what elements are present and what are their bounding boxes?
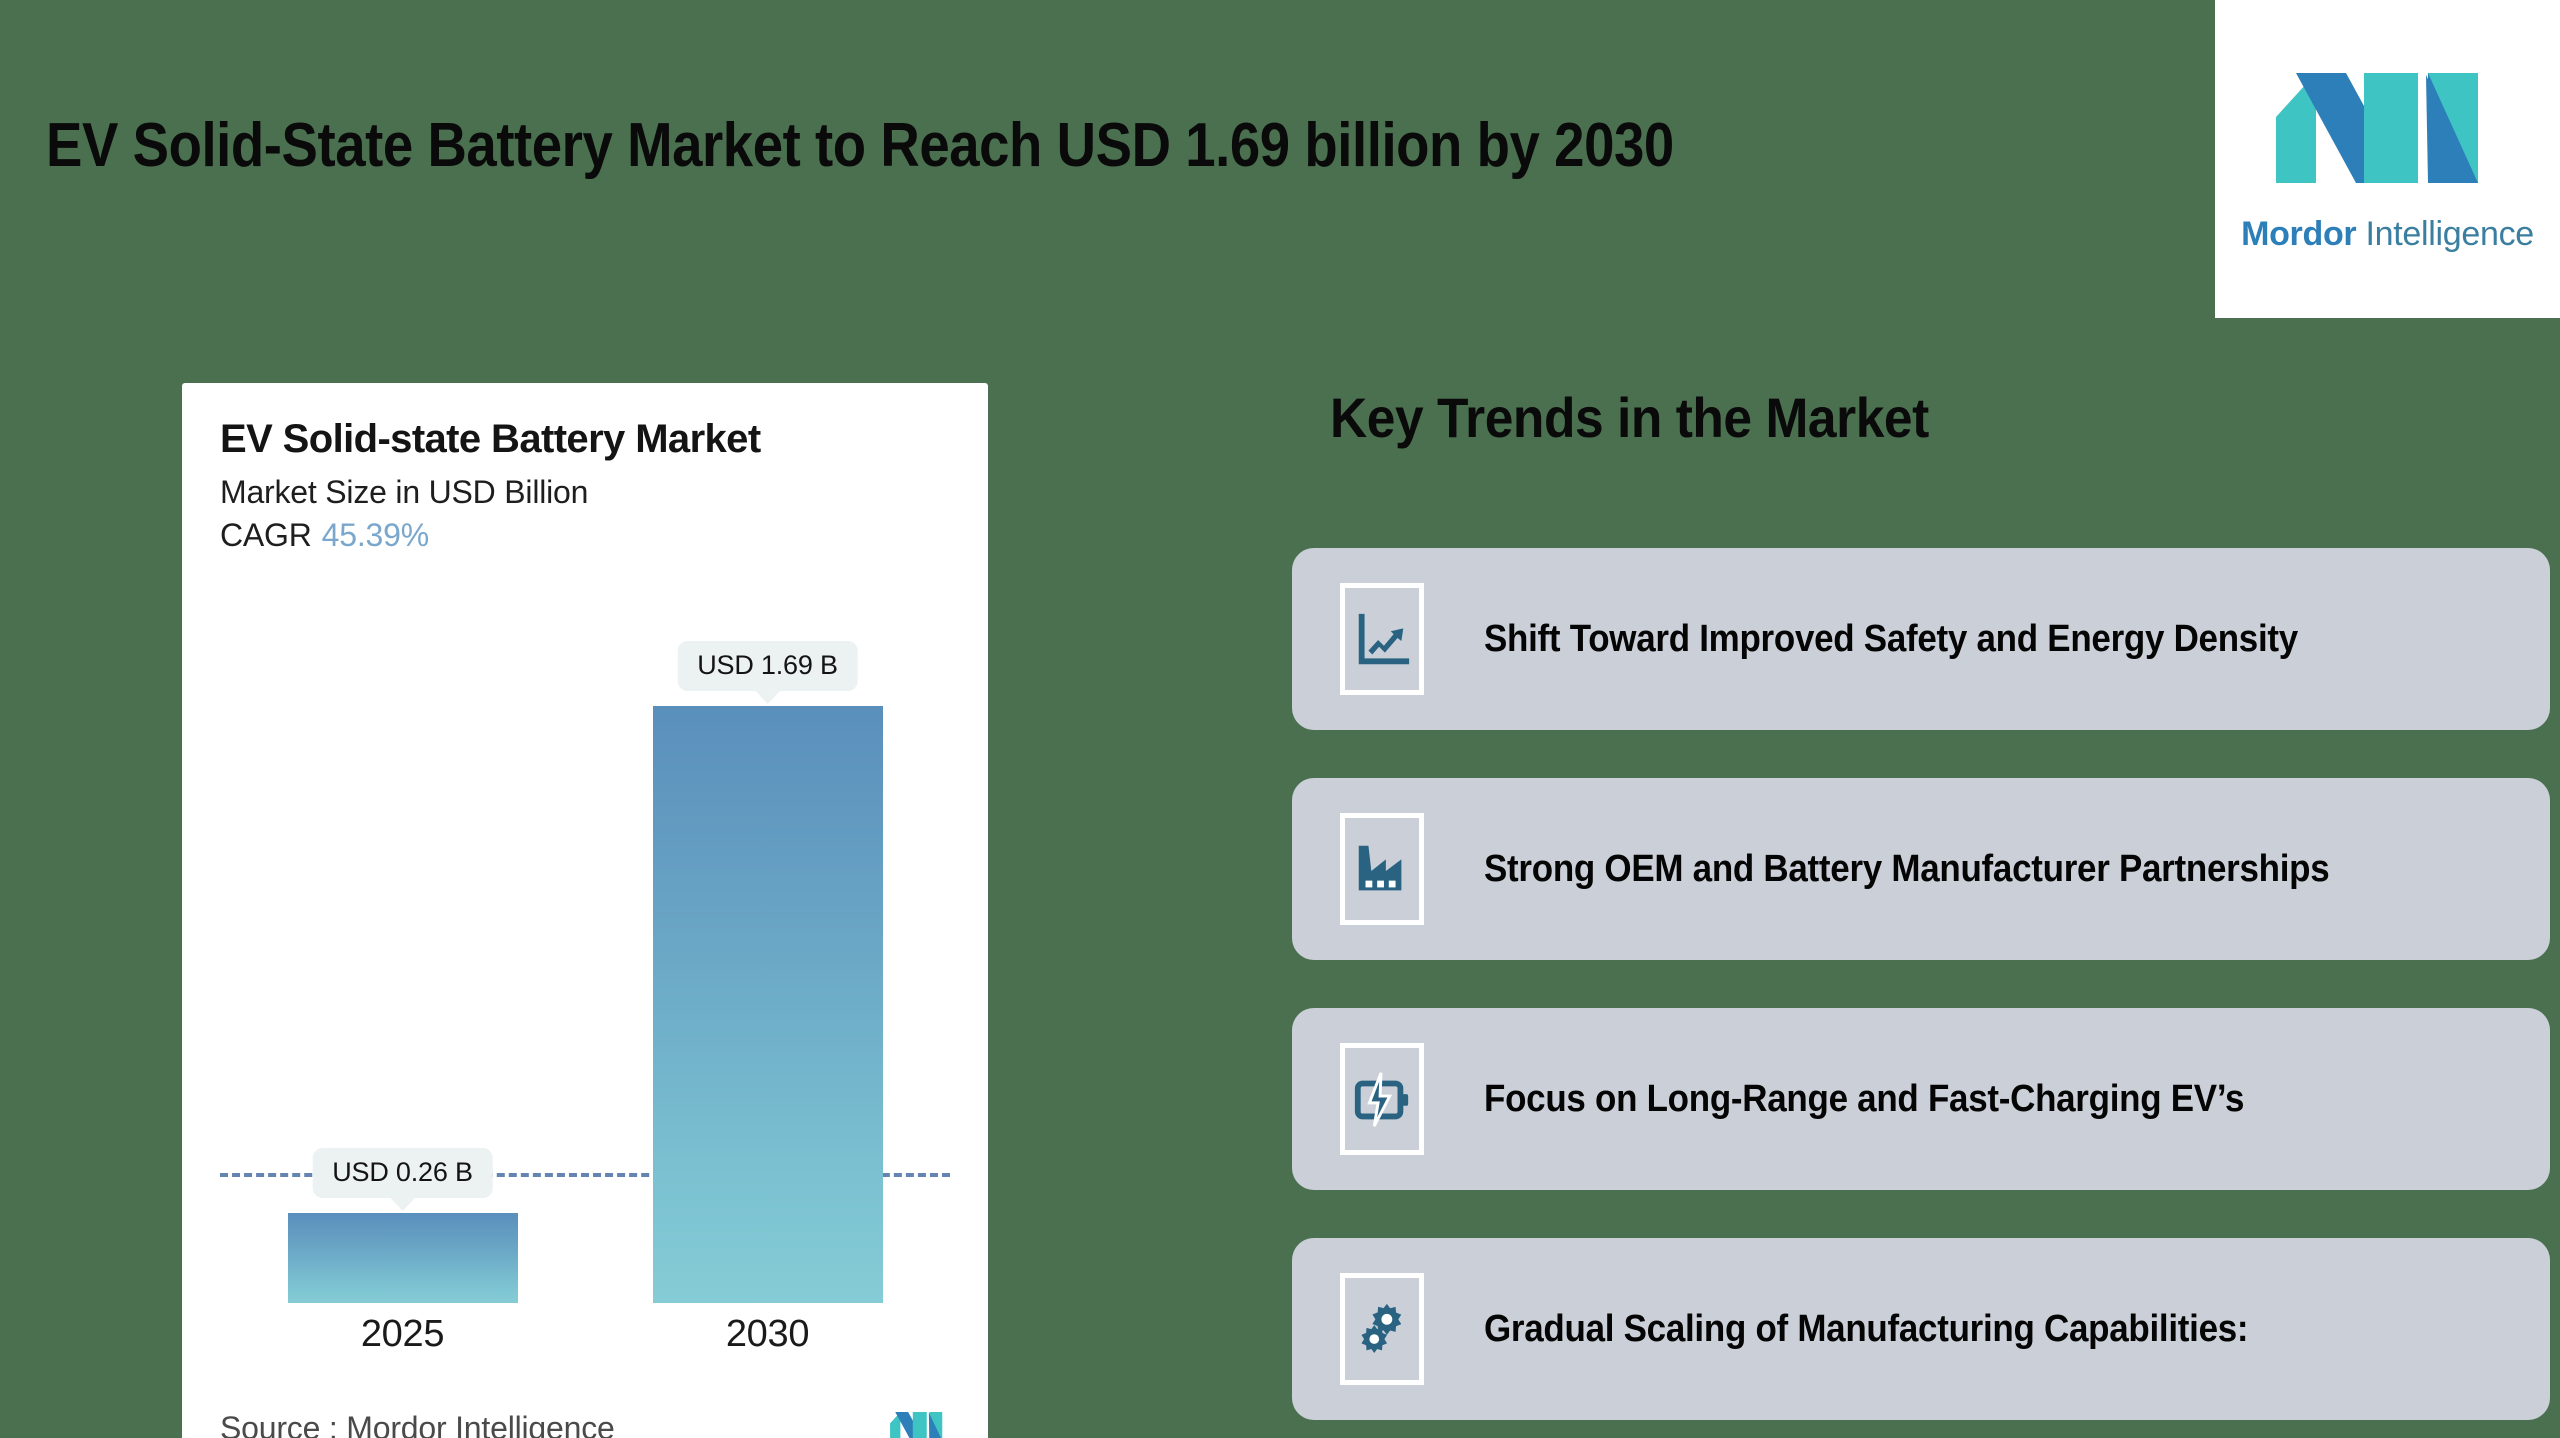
page-title: EV Solid-State Battery Market to Reach U… — [46, 110, 1674, 181]
icon-frame-1 — [1340, 583, 1424, 695]
mordor-intelligence-logo-icon — [2268, 65, 2508, 205]
cagr-value: 45.39% — [322, 517, 429, 553]
source-logo-icon — [888, 1403, 950, 1438]
battery-charging-icon — [1351, 1068, 1413, 1130]
trend-label-3: Focus on Long-Range and Fast-Charging EV… — [1484, 1078, 2244, 1121]
brand-name-light: Intelligence — [2356, 215, 2534, 253]
chart-plot-area: USD 0.26 B USD 1.69 B — [220, 683, 950, 1303]
trend-label-1: Shift Toward Improved Safety and Energy … — [1484, 618, 2298, 661]
trend-card-3[interactable]: Focus on Long-Range and Fast-Charging EV… — [1292, 1008, 2550, 1190]
chart-source-row: Source : Mordor Intelligence — [220, 1403, 950, 1438]
trend-card-1[interactable]: Shift Toward Improved Safety and Energy … — [1292, 548, 2550, 730]
factory-icon — [1351, 838, 1413, 900]
trend-card-4[interactable]: Gradual Scaling of Manufacturing Capabil… — [1292, 1238, 2550, 1420]
brand-wordmark: Mordor Intelligence — [2241, 215, 2534, 254]
line-chart-up-icon — [1351, 608, 1413, 670]
icon-frame-4 — [1340, 1273, 1424, 1385]
trend-label-2: Strong OEM and Battery Manufacturer Part… — [1484, 848, 2329, 891]
trend-list: Shift Toward Improved Safety and Energy … — [1292, 548, 2550, 1438]
chart-card: EV Solid-state Battery Market Market Siz… — [182, 383, 988, 1438]
chart-title: EV Solid-state Battery Market — [220, 417, 950, 462]
trends-heading: Key Trends in the Market — [1330, 385, 1929, 450]
icon-frame-2 — [1340, 813, 1424, 925]
bar-2025 — [288, 1213, 518, 1303]
infographic-root: EV Solid-State Battery Market to Reach U… — [0, 0, 2560, 1438]
gears-icon — [1351, 1298, 1413, 1360]
bar-2030 — [653, 706, 883, 1303]
x-label-2025: 2025 — [288, 1313, 518, 1356]
source-text: Source : Mordor Intelligence — [220, 1410, 615, 1438]
trend-label-4: Gradual Scaling of Manufacturing Capabil… — [1484, 1308, 2248, 1351]
chart-subtitle: Market Size in USD Billion — [220, 474, 950, 511]
x-label-2030: 2030 — [653, 1313, 883, 1356]
bar-series: USD 0.26 B USD 1.69 B — [220, 683, 950, 1303]
chart-cagr: CAGR45.39% — [220, 517, 950, 554]
bar-group-2030: USD 1.69 B — [653, 683, 883, 1303]
trend-card-2[interactable]: Strong OEM and Battery Manufacturer Part… — [1292, 778, 2550, 960]
value-tooltip-2030: USD 1.69 B — [677, 641, 858, 691]
value-tooltip-2025: USD 0.26 B — [312, 1148, 493, 1198]
cagr-label: CAGR — [220, 517, 312, 553]
brand-name-bold: Mordor — [2241, 215, 2356, 253]
bar-group-2025: USD 0.26 B — [288, 683, 518, 1303]
icon-frame-3 — [1340, 1043, 1424, 1155]
x-axis-labels: 2025 2030 — [220, 1313, 950, 1356]
brand-logo-box: Mordor Intelligence — [2215, 0, 2560, 318]
